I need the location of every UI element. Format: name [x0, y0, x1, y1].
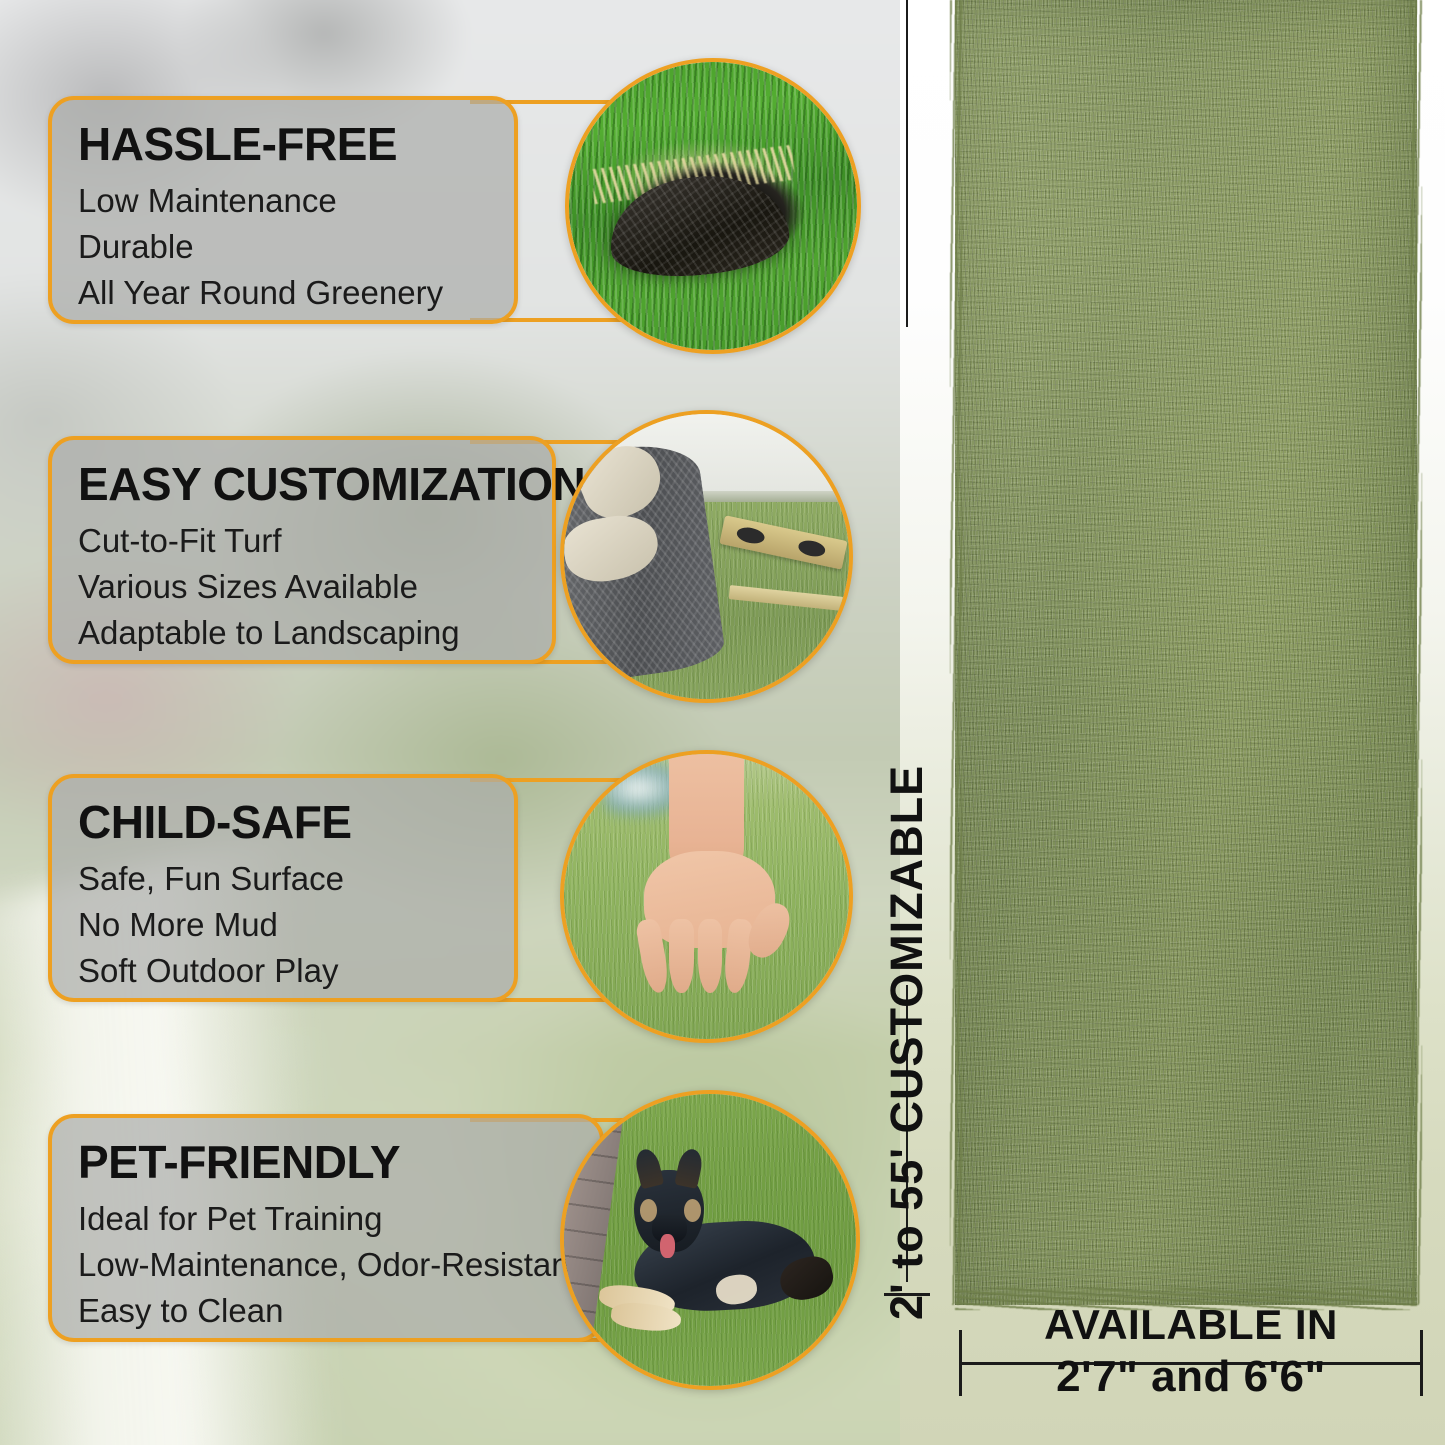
available-in-heading: AVAILABLE IN [960, 1300, 1422, 1350]
feature-bullet-1-1: Low Maintenance [78, 178, 488, 224]
dog-image [564, 1094, 856, 1386]
feature-title-2: EASY CUSTOMIZATION [78, 458, 526, 510]
available-width-block: AVAILABLE IN 2'7" and 6'6" [960, 1300, 1422, 1404]
feature-title-3: CHILD-SAFE [78, 796, 488, 848]
feature-bullet-3-3: Soft Outdoor Play [78, 948, 488, 994]
feature-photo-1 [565, 58, 861, 354]
feature-title-1: HASSLE-FREE [78, 118, 488, 170]
turf-installation-photo [564, 414, 849, 699]
child-hand-on-turf-photo [564, 754, 849, 1039]
feature-bullet-4-1: Ideal for Pet Training [78, 1196, 574, 1242]
dog-ear-right [674, 1147, 705, 1189]
feature-bullet-3-1: Safe, Fun Surface [78, 856, 488, 902]
dog-tongue [660, 1234, 675, 1257]
feature-bullets-3: Safe, Fun Surface No More Mud Soft Outdo… [78, 856, 488, 994]
feature-bullet-3-2: No More Mud [78, 902, 488, 948]
feature-bullet-2-1: Cut-to-Fit Turf [78, 518, 526, 564]
turf-strip-product-photo [955, 0, 1417, 1305]
length-dimension-line-top [906, 0, 908, 327]
feature-bullets-1: Low Maintenance Durable All Year Round G… [78, 178, 488, 316]
feature-card-pet-friendly: PET-FRIENDLY Ideal for Pet Training Low-… [48, 1114, 604, 1342]
length-dimension-label: 2' to 55' CUSTOMIZABLE [868, 660, 946, 1320]
feature-bullet-1-2: Durable [78, 224, 488, 270]
turf-roll-image [569, 62, 857, 350]
feature-card-hassle-free: HASSLE-FREE Low Maintenance Durable All … [48, 96, 518, 324]
feature-photo-3 [560, 750, 853, 1043]
feature-bullet-4-2: Low-Maintenance, Odor-Resistant [78, 1242, 574, 1288]
brick-path [564, 1094, 628, 1386]
child-finger-3 [698, 919, 722, 993]
installation-image [564, 414, 849, 699]
feature-photo-4 [560, 1090, 860, 1390]
feature-bullets-2: Cut-to-Fit Turf Various Sizes Available … [78, 518, 526, 656]
feature-photo-2 [560, 410, 853, 703]
infographic-canvas: 2' to 55' CUSTOMIZABLE AVAILABLE IN 2'7"… [0, 0, 1445, 1445]
child-hand-image [564, 754, 849, 1039]
available-width-values: 2'7" and 6'6" [960, 1350, 1422, 1404]
feature-bullet-2-2: Various Sizes Available [78, 564, 526, 610]
feature-bullet-2-3: Adaptable to Landscaping [78, 610, 526, 656]
dog-ear-left [633, 1147, 665, 1189]
feature-card-child-safe: CHILD-SAFE Safe, Fun Surface No More Mud… [48, 774, 518, 1002]
feature-bullets-4: Ideal for Pet Training Low-Maintenance, … [78, 1196, 574, 1334]
dog-on-turf-photo [564, 1094, 856, 1386]
child-finger-2 [669, 919, 693, 993]
feature-bullet-1-3: All Year Round Greenery [78, 270, 488, 316]
feature-title-4: PET-FRIENDLY [78, 1136, 574, 1188]
feature-card-easy-customization: EASY CUSTOMIZATION Cut-to-Fit Turf Vario… [48, 436, 556, 664]
feature-bullet-4-3: Easy to Clean [78, 1288, 574, 1334]
turf-roll-closeup-photo [569, 62, 857, 350]
